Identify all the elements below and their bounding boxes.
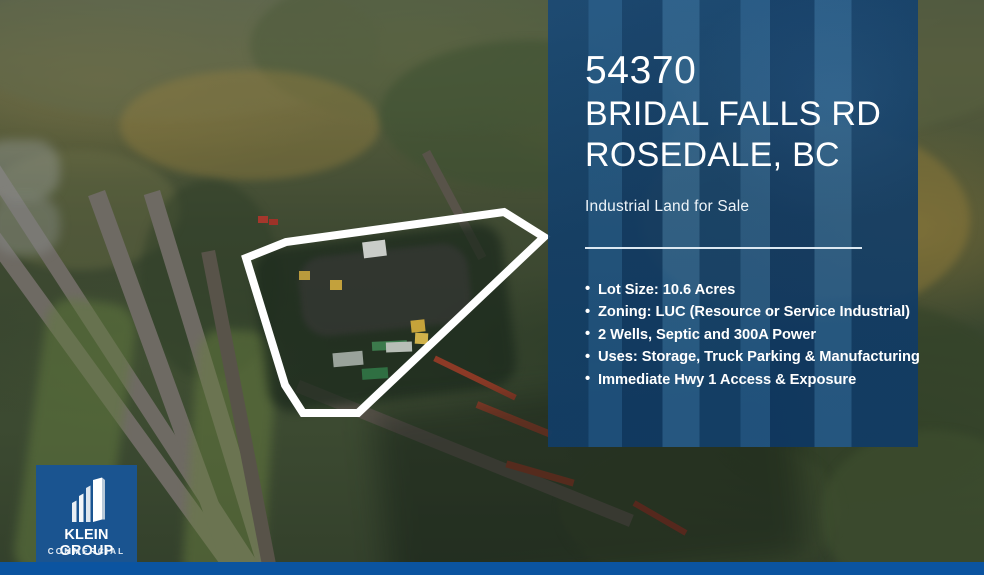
list-item: Lot Size: 10.6 Acres <box>585 279 888 301</box>
list-item: Immediate Hwy 1 Access & Exposure <box>585 369 888 391</box>
klein-group-logo[interactable]: KLEIN GROUP COMMERCIAL <box>36 465 137 568</box>
flyer-canvas: 54370 BRIDAL FALLS RD ROSEDALE, BC Indus… <box>0 0 984 575</box>
info-panel: 54370 BRIDAL FALLS RD ROSEDALE, BC Indus… <box>548 0 918 447</box>
address-number: 54370 <box>585 48 888 94</box>
info-panel-content: 54370 BRIDAL FALLS RD ROSEDALE, BC Indus… <box>548 0 918 391</box>
listing-subtitle: Industrial Land for Sale <box>585 198 888 216</box>
feature-list: Lot Size: 10.6 Acres Zoning: LUC (Resour… <box>585 279 888 391</box>
logo-tagline: COMMERCIAL <box>36 547 137 556</box>
skyscraper-icon <box>36 476 137 524</box>
list-item: Uses: Storage, Truck Parking & Manufactu… <box>585 346 888 368</box>
bottom-accent-bar <box>0 562 984 575</box>
list-item: 2 Wells, Septic and 300A Power <box>585 324 888 346</box>
panel-divider <box>585 247 862 249</box>
address-city: ROSEDALE, BC <box>585 135 888 176</box>
list-item: Zoning: LUC (Resource or Service Industr… <box>585 301 888 323</box>
address-street: BRIDAL FALLS RD <box>585 94 888 135</box>
